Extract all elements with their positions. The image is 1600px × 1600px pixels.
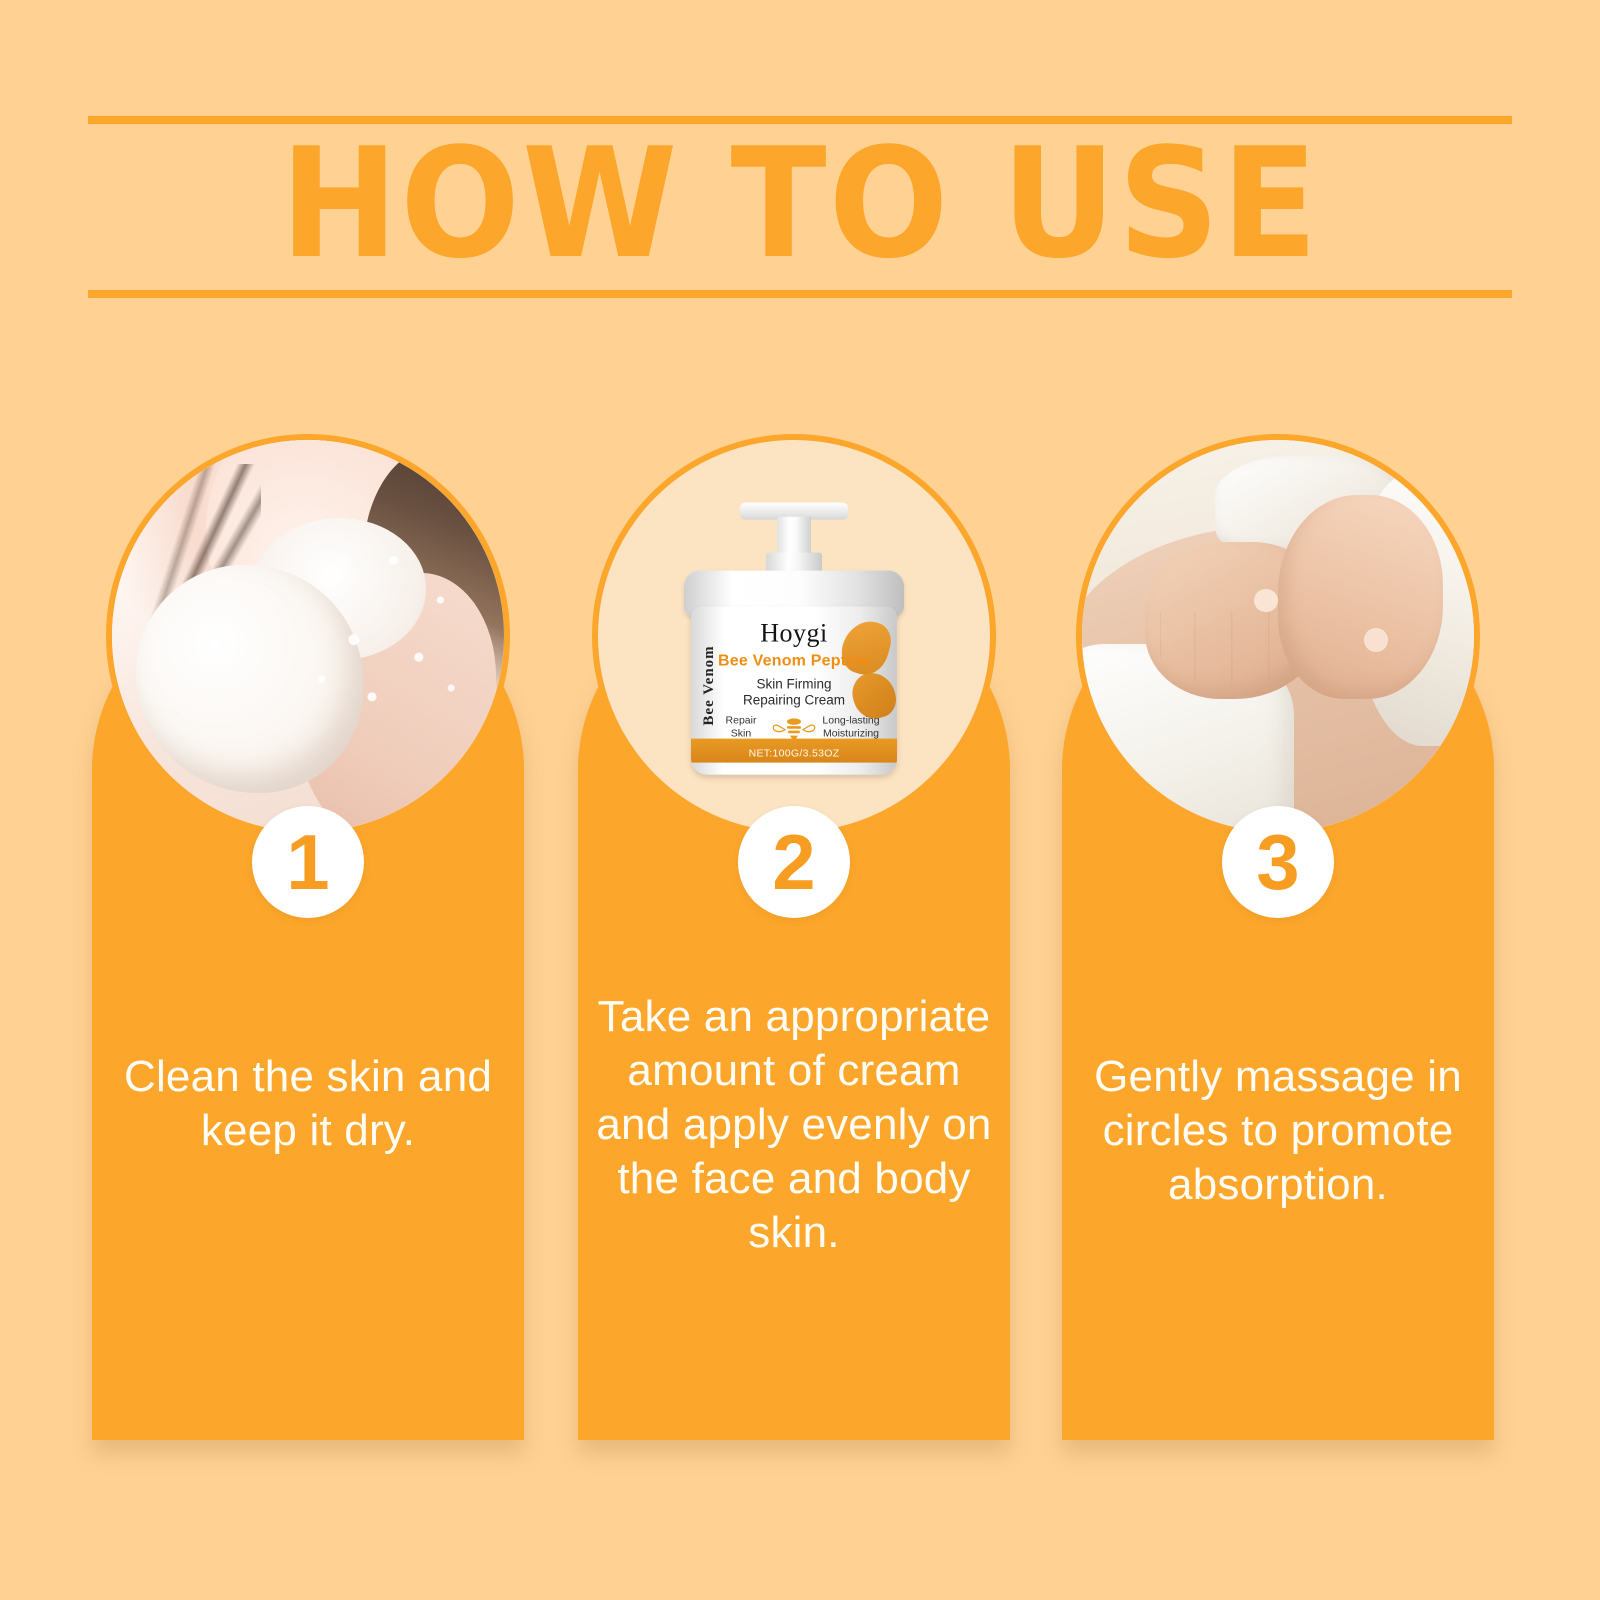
product-claim-left: Repair Skin <box>715 715 767 741</box>
product-subtitle-line1: Skin Firming <box>691 677 897 693</box>
product-net-weight: NET:100G/3.53OZ <box>691 748 897 760</box>
photo-bubbles <box>300 534 480 754</box>
steps-container: Clean the skin and keep it dry. Take an … <box>0 0 1600 1600</box>
photo-woman-washing-with-foam <box>112 440 504 832</box>
photo-nail-right <box>1364 628 1388 652</box>
product-claim-left-line1: Repair <box>715 715 767 728</box>
step-number-badge-2: 2 <box>738 806 850 918</box>
step-caption-3: Gently massage in circles to promote abs… <box>1080 1050 1476 1212</box>
photo-hand-right <box>1278 495 1443 699</box>
jar-label: Bee Venom Hoygi Bee Venom Peptide Skin F… <box>691 607 897 775</box>
step-image-1 <box>106 434 510 838</box>
step-caption-1: Clean the skin and keep it dry. <box>110 1050 506 1158</box>
product-subtitle-line2: Repairing Cream <box>691 693 897 709</box>
step-image-3 <box>1076 434 1480 838</box>
product-claim-right: Long-lasting Moisturizing <box>819 715 883 741</box>
step-caption-2: Take an appropriate amount of cream and … <box>596 990 992 1260</box>
product-claim-right-line1: Long-lasting <box>819 715 883 728</box>
photo-massage-therapy <box>1082 440 1474 832</box>
product-name: Bee Venom Peptide <box>691 653 897 671</box>
product-subtitle: Skin Firming Repairing Cream <box>691 677 897 709</box>
how-to-use-infographic: HOW TO USE Clean the skin and keep it dr… <box>0 0 1600 1600</box>
step-number-badge-3: 3 <box>1222 806 1334 918</box>
photo-fingers <box>1160 612 1301 683</box>
product-jar: Bee Venom Hoygi Bee Venom Peptide Skin F… <box>665 503 923 793</box>
step-image-2: Bee Venom Hoygi Bee Venom Peptide Skin F… <box>592 434 996 838</box>
step-number-badge-1: 1 <box>252 806 364 918</box>
pump-neck <box>777 517 811 557</box>
product-brand: Hoygi <box>691 619 897 649</box>
